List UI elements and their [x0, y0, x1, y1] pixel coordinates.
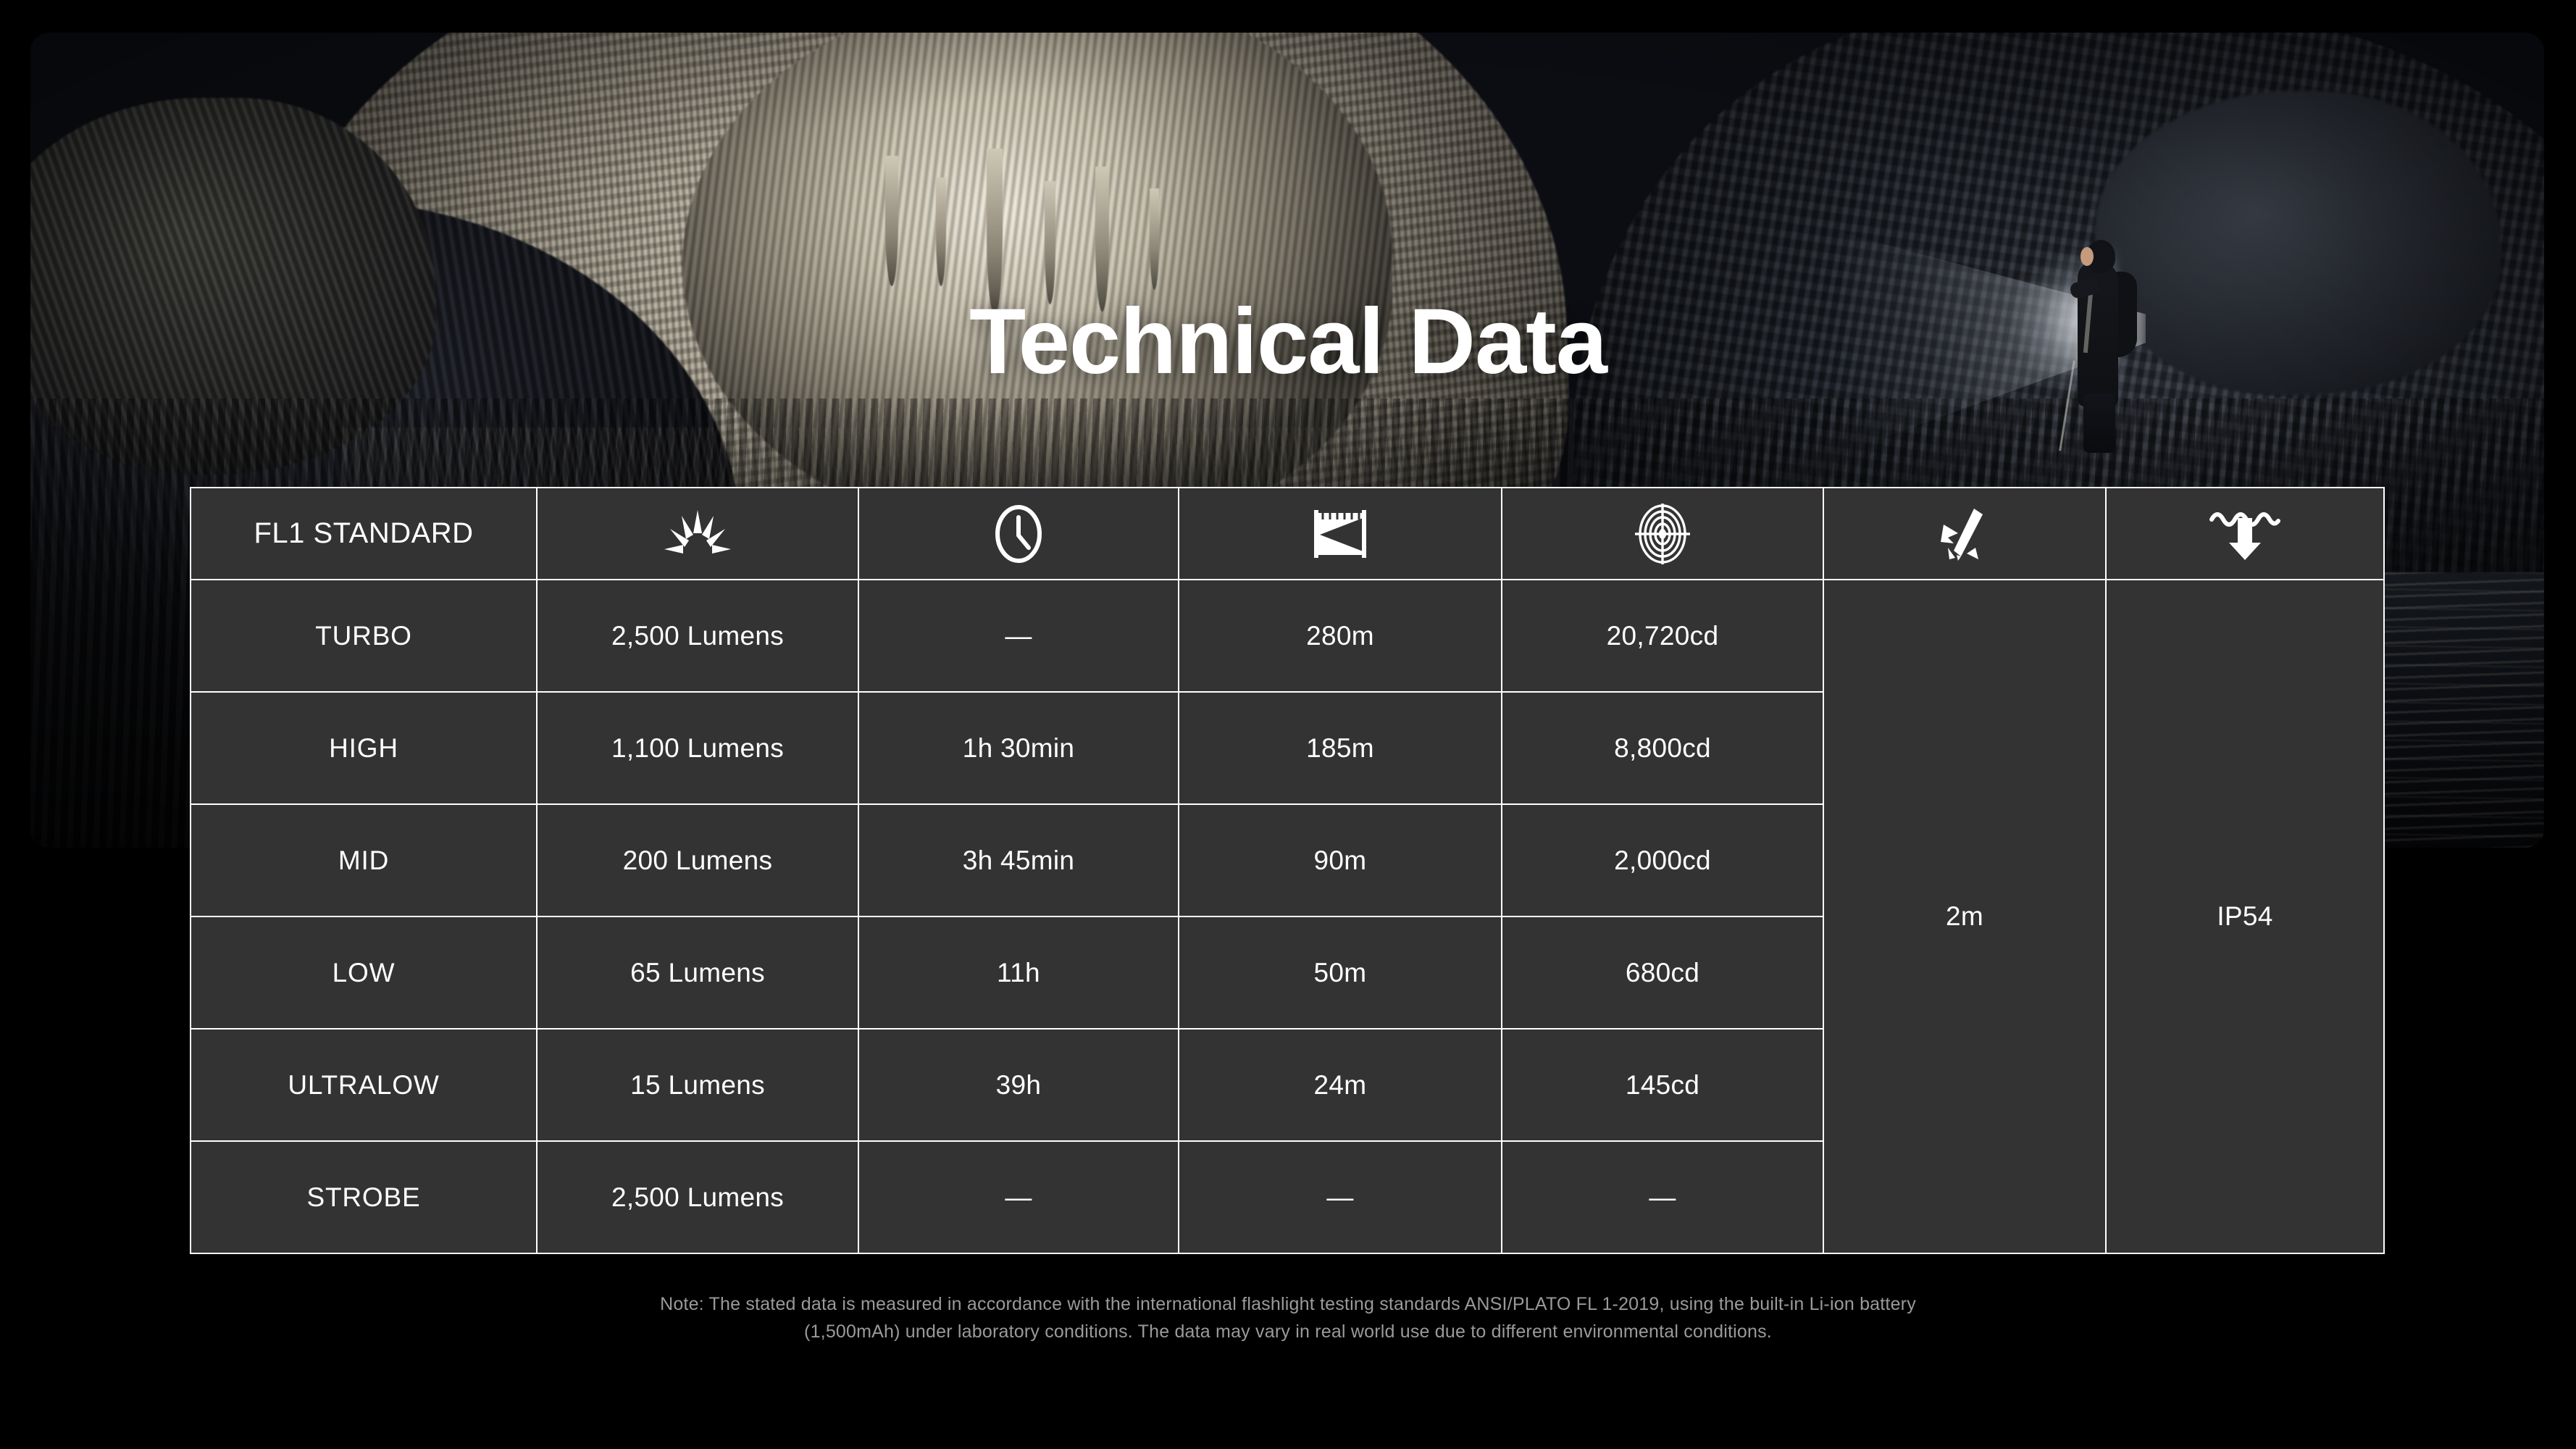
lumens-value: 2,500 Lumens: [537, 1141, 858, 1253]
technical-data-page: Technical Data FL1 STANDARD: [0, 0, 2576, 1449]
runtime-value: 11h: [858, 916, 1179, 1029]
footnote: Note: The stated data is measured in acc…: [0, 1291, 2576, 1345]
intensity-value: —: [1502, 1141, 1823, 1253]
peak-beam-intensity-icon: [1502, 488, 1823, 580]
distance-value: —: [1179, 1141, 1502, 1253]
distance-value: 50m: [1179, 916, 1502, 1029]
runtime-value: 39h: [858, 1029, 1179, 1141]
water-resistance-value: IP54: [2106, 580, 2384, 1253]
distance-value: 24m: [1179, 1029, 1502, 1141]
distance-value: 280m: [1179, 580, 1502, 692]
lumens-burst-icon: [537, 488, 858, 580]
intensity-value: 680cd: [1502, 916, 1823, 1029]
intensity-value: 8,800cd: [1502, 692, 1823, 804]
mode-name: STROBE: [191, 1141, 537, 1253]
runtime-value: 1h 30min: [858, 692, 1179, 804]
runtime-value: 3h 45min: [858, 804, 1179, 916]
intensity-value: 145cd: [1502, 1029, 1823, 1141]
water-resistance-icon: [2106, 488, 2384, 580]
lumens-value: 1,100 Lumens: [537, 692, 858, 804]
mode-name: MID: [191, 804, 537, 916]
distance-value: 90m: [1179, 804, 1502, 916]
footnote-line-1: Note: The stated data is measured in acc…: [0, 1291, 2576, 1319]
lumens-value: 15 Lumens: [537, 1029, 858, 1141]
clock-icon: [858, 488, 1179, 580]
impact-resistance-value: 2m: [1823, 580, 2106, 1253]
intensity-value: 20,720cd: [1502, 580, 1823, 692]
distance-value: 185m: [1179, 692, 1502, 804]
mode-name: ULTRALOW: [191, 1029, 537, 1141]
runtime-value: —: [858, 1141, 1179, 1253]
mode-name: TURBO: [191, 580, 537, 692]
beam-distance-ruler-icon: [1179, 488, 1502, 580]
table-header-row: FL1 STANDARD: [191, 488, 2384, 580]
specifications-table: FL1 STANDARD: [190, 487, 2385, 1254]
lumens-value: 65 Lumens: [537, 916, 858, 1029]
footnote-line-2: (1,500mAh) under laboratory conditions. …: [0, 1319, 2576, 1346]
header-fl1-standard: FL1 STANDARD: [191, 488, 537, 580]
lumens-value: 2,500 Lumens: [537, 580, 858, 692]
impact-resistance-icon: [1823, 488, 2106, 580]
intensity-value: 2,000cd: [1502, 804, 1823, 916]
table-body: TURBO 2,500 Lumens — 280m 20,720cd 2m IP…: [191, 580, 2384, 1253]
table-row: TURBO 2,500 Lumens — 280m 20,720cd 2m IP…: [191, 580, 2384, 692]
runtime-value: —: [858, 580, 1179, 692]
lumens-value: 200 Lumens: [537, 804, 858, 916]
mode-name: HIGH: [191, 692, 537, 804]
page-title: Technical Data: [0, 288, 2576, 395]
mode-name: LOW: [191, 916, 537, 1029]
